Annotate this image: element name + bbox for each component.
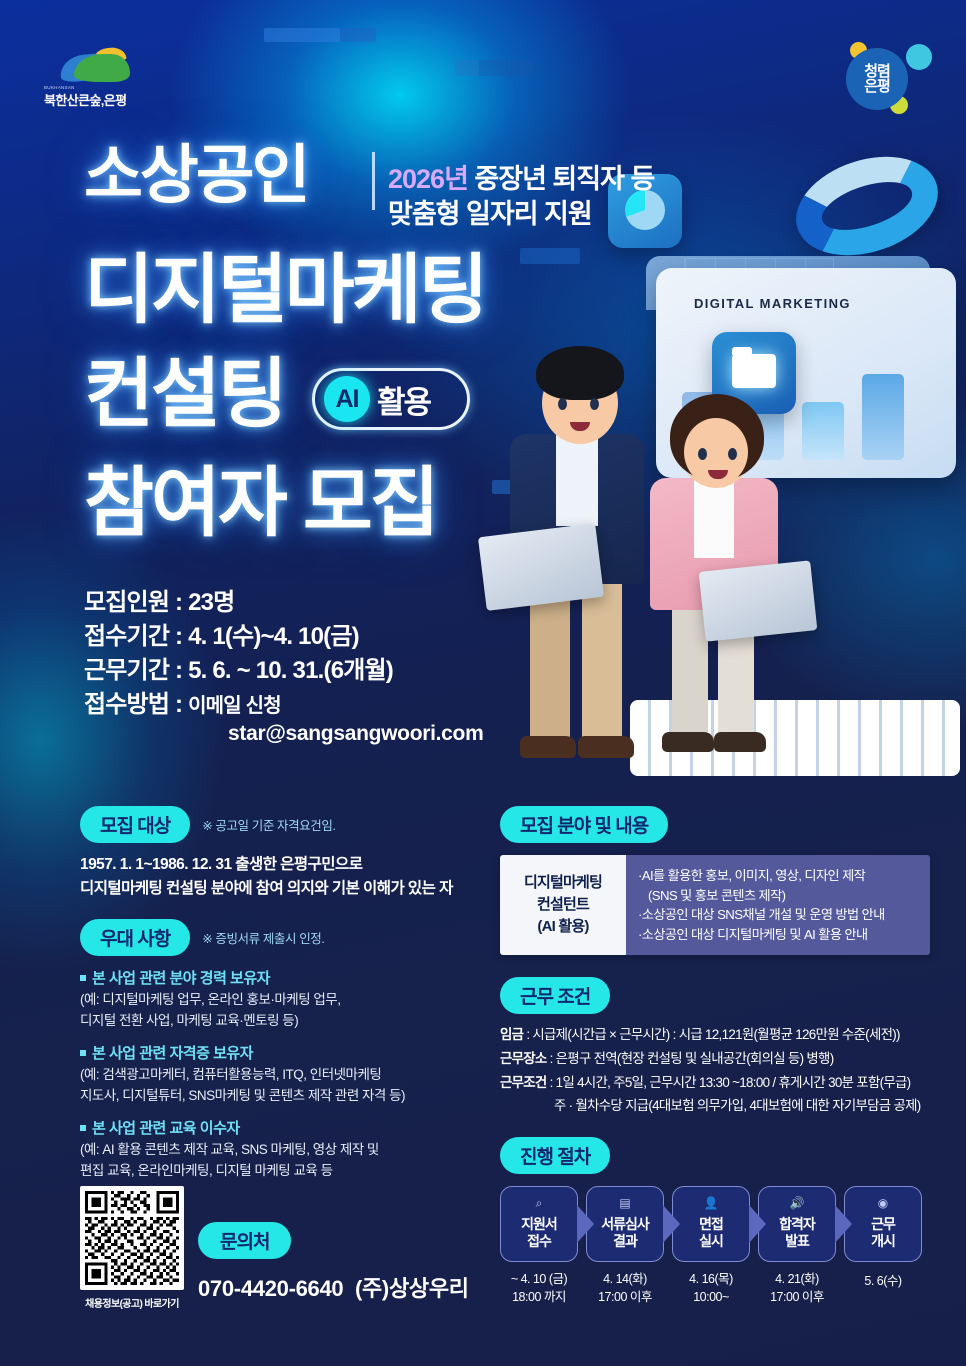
field-table: 디지털마케팅 컨설턴트 (AI 활용) ·AI를 활용한 홍보, 이미지, 영상… xyxy=(500,855,930,955)
info-value-apply-period: 4. 1(수)~4. 10(금) xyxy=(188,623,359,650)
preference-desc-2: 디지털 전환 사업, 마케팅 교육·멘토링 등) xyxy=(80,1011,490,1031)
work-cond-label: 근무조건 xyxy=(500,1075,547,1090)
left-column: 모집 대상 ※ 공고일 기준 자격요건임. 1957. 1. 1~1986. 1… xyxy=(80,806,490,1181)
process-step-label: 지원서접수 xyxy=(521,1216,557,1251)
step-date-line-1: ~ 4. 10 (금) xyxy=(511,1272,567,1286)
step-label-line-1: 면접 xyxy=(699,1216,723,1232)
hero-subtitle-line-1: 2026년 중장년 퇴직자 등 xyxy=(388,157,654,196)
field-duties-cell: ·AI를 활용한 홍보, 이미지, 영상, 디자인 제작 (SNS 및 홍보 콘… xyxy=(626,855,930,955)
page-title-consulting: 컨설팅 xyxy=(84,357,285,433)
hero-section: 소상공인 2026년 중장년 퇴직자 등 맞춤형 일자리 지원 디지털마케팅 컨… xyxy=(0,0,966,580)
process-step-label: 면접실시 xyxy=(699,1216,723,1251)
step-date: 4. 16(목)10:00~ xyxy=(672,1270,750,1306)
ai-usage-badge: AI 활용 xyxy=(312,368,470,430)
qr-code-svg xyxy=(85,1191,179,1285)
step-date-line-2: 18:00 까지 xyxy=(512,1290,566,1304)
preference-heading-row: 우대 사항 ※ 증빙서류 제출시 인정. xyxy=(80,919,490,956)
info-label-apply-method: 접수방법 : xyxy=(84,691,188,718)
magnifier-icon: ⌕ xyxy=(536,1197,543,1212)
qr-caption: 채용정보(공고) 바로가기 xyxy=(80,1295,184,1310)
hero-subtitle-line-2: 맞춤형 일자리 지원 xyxy=(388,192,592,231)
field-duty-item: ·AI를 활용한 홍보, 이미지, 영상, 디자인 제작 xyxy=(638,866,920,886)
preference-title-text: 본 사업 관련 자격증 보유자 xyxy=(92,1045,253,1062)
preference-title-text: 본 사업 관련 분야 경력 보유자 xyxy=(92,970,270,987)
work-cond-value: : 1일 4시간, 주5일, 근무시간 13:30 ~18:00 / 휴게시간 … xyxy=(547,1075,911,1090)
field-role-cell: 디지털마케팅 컨설턴트 (AI 활용) xyxy=(500,855,626,955)
step-label-line-1: 합격자 xyxy=(779,1216,815,1232)
field-role-line-3: (AI 활용) xyxy=(537,917,588,937)
hero-year: 2026년 xyxy=(388,164,468,194)
field-role-line-2: 컨설턴트 xyxy=(537,895,589,915)
process-pill: 진행 절차 xyxy=(500,1137,610,1174)
contact-block: 문의처 070-4420-6640 (주)상상우리 xyxy=(198,1222,469,1303)
preference-desc-2: 편집 교육, 온라인마케팅, 디지털 마케팅 교육 등 xyxy=(80,1161,490,1181)
process-steps: ⌕ 지원서접수 ▤ 서류심사결과 👤 면접실시 🔊 합격자발표 xyxy=(500,1186,930,1262)
info-row-apply-method: 접수방법 : 이메일 신청 xyxy=(84,688,483,722)
process-step: 👤 면접실시 xyxy=(672,1186,750,1262)
step-date-line-1: 5. 6(수) xyxy=(864,1274,901,1288)
step-date-line-1: 4. 21(화) xyxy=(775,1272,819,1286)
step-date: 4. 21(화)17:00 이후 xyxy=(758,1270,836,1306)
work-place-value: : 은평구 전역(현장 컨설팅 및 실내공간(회의실 등) 병행) xyxy=(547,1051,834,1066)
work-conditions-block: 근무 조건 임금 : 시급제(시간급 × 근무시간) : 시급 12,121원(… xyxy=(500,977,930,1117)
work-cond-line: 근무조건 : 1일 4시간, 주5일, 근무시간 13:30 ~18:00 / … xyxy=(500,1072,930,1094)
field-duty-item: ·소상공인 대상 SNS채널 개설 및 운영 방법 안내 xyxy=(638,905,920,925)
step-arrow-icon xyxy=(577,1205,594,1243)
preference-item-title: 본 사업 관련 자격증 보유자 xyxy=(80,1042,490,1063)
preference-desc-1: (예: AI 활용 콘텐츠 제작 교육, SNS 마케팅, 영상 제작 및 xyxy=(80,1140,490,1160)
info-value-count: 23명 xyxy=(188,589,234,616)
process-step: 🔊 합격자발표 xyxy=(758,1186,836,1262)
target-pill: 모집 대상 xyxy=(80,806,190,843)
bullet-square-icon xyxy=(80,1050,86,1056)
step-date-line-2: 17:00 이후 xyxy=(598,1290,652,1304)
contact-company: (주)상상우리 xyxy=(355,1276,469,1301)
qr-code-icon[interactable] xyxy=(80,1186,184,1290)
qr-block[interactable]: 채용정보(공고) 바로가기 xyxy=(80,1186,184,1310)
process-step: ⌕ 지원서접수 xyxy=(500,1186,578,1262)
field-duty-item: ·소상공인 대상 디지털마케팅 및 AI 활용 안내 xyxy=(638,925,920,945)
process-step: ▤ 서류심사결과 xyxy=(586,1186,664,1262)
preference-item: 본 사업 관련 자격증 보유자 (예: 검색광고마케터, 컴퓨터활용능력, IT… xyxy=(80,1042,490,1106)
step-arrow-icon xyxy=(749,1205,766,1243)
preference-pill: 우대 사항 xyxy=(80,919,190,956)
preference-desc-1: (예: 디지털마케팅 업무, 온라인 홍보·마케팅 업무, xyxy=(80,990,490,1010)
woman-shoe-right xyxy=(714,732,766,752)
step-date: 4. 14(화)17:00 이후 xyxy=(586,1270,664,1306)
work-cond-extra-line: 주 · 월차수당 지급(4대보험 의무가입, 4대보험에 대한 자기부담금 공제… xyxy=(500,1095,930,1117)
field-duty-item: (SNS 및 홍보 콘텐츠 제작) xyxy=(638,886,920,906)
title-divider xyxy=(372,152,375,210)
contact-phone-row: 070-4420-6640 (주)상상우리 xyxy=(198,1271,469,1303)
info-email[interactable]: star@sangsangwoori.com xyxy=(228,722,483,746)
target-line-2: 디지털마케팅 컨설팅 분야에 참여 의지와 기본 이해가 있는 자 xyxy=(80,877,490,900)
contact-pill: 문의처 xyxy=(198,1222,291,1259)
work-wage-line: 임금 : 시급제(시간급 × 근무시간) : 시급 12,121원(월평균 12… xyxy=(500,1024,930,1046)
person-icon: 👤 xyxy=(704,1197,719,1212)
work-wage-value: : 시급제(시간급 × 근무시간) : 시급 12,121원(월평균 126만원… xyxy=(523,1027,900,1042)
step-arrow-icon xyxy=(835,1205,852,1243)
step-arrow-icon xyxy=(663,1205,680,1243)
page-title-recruit: 참여자 모집 xyxy=(84,466,437,542)
preference-item-title: 본 사업 관련 교육 이수자 xyxy=(80,1117,490,1138)
info-label-apply-period: 접수기간 : xyxy=(84,623,188,650)
clipboard-icon: ▤ xyxy=(619,1197,630,1212)
step-label-line-2: 실시 xyxy=(699,1233,723,1249)
step-date-line-1: 4. 14(화) xyxy=(603,1272,647,1286)
step-label-line-2: 접수 xyxy=(527,1233,551,1249)
woman-shoe-left xyxy=(662,732,714,752)
info-row-work-period: 근무기간 : 5. 6. ~ 10. 31.(6개월) xyxy=(84,654,483,688)
ai-badge-label: 활용 xyxy=(377,377,430,422)
step-date-line-2: 17:00 이후 xyxy=(770,1290,824,1304)
process-block: 진행 절차 ⌕ 지원서접수 ▤ 서류심사결과 👤 면접실시 xyxy=(500,1137,930,1306)
step-label-line-1: 서류심사 xyxy=(601,1216,649,1232)
hero-subtitle-rest: 중장년 퇴직자 등 xyxy=(468,164,654,194)
process-step-label: 서류심사결과 xyxy=(601,1216,649,1251)
info-value-apply-method: 이메일 신청 xyxy=(188,695,281,717)
bullet-square-icon xyxy=(80,975,86,981)
right-column: 모집 분야 및 내용 디지털마케팅 컨설턴트 (AI 활용) ·AI를 활용한 … xyxy=(500,806,930,1306)
poster-root: BUKHANSAN 북한산큰숲,은평 청렴 은평 DIGITAL MARKETI… xyxy=(0,0,966,1366)
preference-title-text: 본 사업 관련 교육 이수자 xyxy=(92,1120,240,1137)
process-step-label: 근무개시 xyxy=(871,1216,895,1251)
megaphone-icon: 🔊 xyxy=(790,1197,805,1212)
preference-item-title: 본 사업 관련 분야 경력 보유자 xyxy=(80,967,490,988)
work-conditions-pill: 근무 조건 xyxy=(500,977,610,1014)
man-shoe-left xyxy=(520,736,576,758)
process-step-label: 합격자발표 xyxy=(779,1216,815,1251)
info-row-apply-period: 접수기간 : 4. 1(수)~4. 10(금) xyxy=(84,620,483,654)
step-label-line-1: 지원서 xyxy=(521,1216,557,1232)
target-heading-row: 모집 대상 ※ 공고일 기준 자격요건임. xyxy=(80,806,490,843)
field-role-line-1: 디지털마케팅 xyxy=(524,873,602,893)
info-value-work-period: 5. 6. ~ 10. 31.(6개월) xyxy=(188,657,393,684)
step-label-line-2: 결과 xyxy=(613,1233,637,1249)
step-date: 5. 6(수) xyxy=(844,1270,922,1306)
info-row-count: 모집인원 : 23명 xyxy=(84,586,483,620)
info-label-work-period: 근무기간 : xyxy=(84,657,188,684)
step-date: ~ 4. 10 (금)18:00 까지 xyxy=(500,1270,578,1306)
preference-item: 본 사업 관련 분야 경력 보유자 (예: 디지털마케팅 업무, 온라인 홍보·… xyxy=(80,967,490,1031)
target-line-1: 1957. 1. 1~1986. 12. 31 출생한 은평구민으로 xyxy=(80,853,490,876)
target-note: ※ 공고일 기준 자격요건임. xyxy=(202,815,335,834)
preference-note: ※ 증빙서류 제출시 인정. xyxy=(202,928,324,947)
contact-phone[interactable]: 070-4420-6640 xyxy=(198,1276,343,1301)
key-info-block: 모집인원 : 23명 접수기간 : 4. 1(수)~4. 10(금) 근무기간 … xyxy=(84,586,483,746)
preference-desc-2: 지도사, 디지털튜터, SNS마케팅 및 콘텐츠 제작 관련 자격 등) xyxy=(80,1086,490,1106)
work-wage-label: 임금 xyxy=(500,1027,523,1042)
page-title-digital-marketing: 디지털마케팅 xyxy=(84,253,486,329)
bullet-square-icon xyxy=(80,1125,86,1131)
preference-item: 본 사업 관련 교육 이수자 (예: AI 활용 콘텐츠 제작 교육, SNS … xyxy=(80,1117,490,1181)
work-place-line: 근무장소 : 은평구 전역(현장 컨설팅 및 실내공간(회의실 등) 병행) xyxy=(500,1048,930,1070)
page-title-main: 소상공인 xyxy=(84,143,308,207)
process-step: ◉ 근무개시 xyxy=(844,1186,922,1262)
step-label-line-2: 개시 xyxy=(871,1233,895,1249)
step-date-line-1: 4. 16(목) xyxy=(689,1272,733,1286)
process-step-dates: ~ 4. 10 (금)18:00 까지 4. 14(화)17:00 이후 4. … xyxy=(500,1270,930,1306)
briefcase-icon: ◉ xyxy=(878,1197,888,1212)
step-date-line-2: 10:00~ xyxy=(693,1290,729,1304)
preference-desc-1: (예: 검색광고마케터, 컴퓨터활용능력, ITQ, 인터넷마케팅 xyxy=(80,1065,490,1085)
step-label-line-2: 발표 xyxy=(785,1233,809,1249)
field-pill: 모집 분야 및 내용 xyxy=(500,806,668,843)
info-label-count: 모집인원 : xyxy=(84,589,188,616)
ai-circle-icon: AI xyxy=(324,376,370,422)
work-place-label: 근무장소 xyxy=(500,1051,547,1066)
step-label-line-1: 근무 xyxy=(871,1216,895,1232)
